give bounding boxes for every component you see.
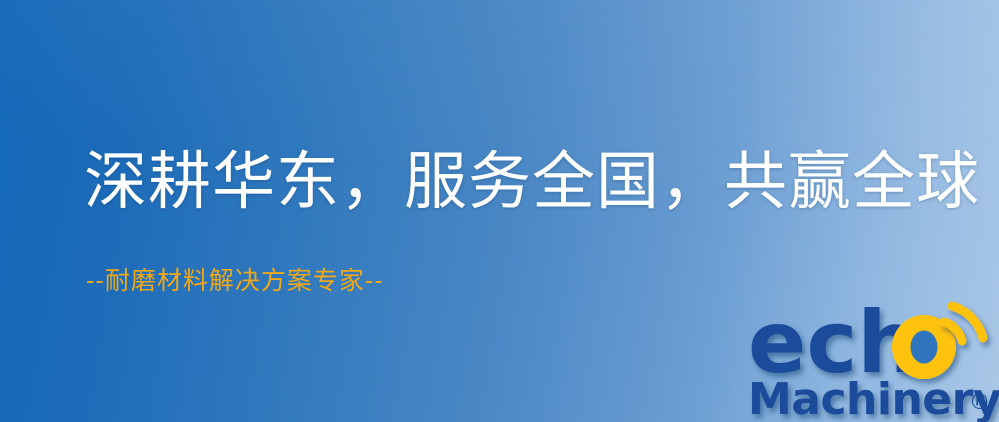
banner-subtitle: --耐磨材料解决方案专家-- xyxy=(86,268,384,293)
echo-machinery-logo[interactable]: ech Machinery ® xyxy=(748,294,999,422)
logo-machinery-wordmark: Machinery xyxy=(748,374,999,422)
banner-headline: 深耕华东，服务全国，共赢全球 xyxy=(84,150,980,213)
registered-trademark-icon: ® xyxy=(969,390,990,414)
hero-banner: 深耕华东，服务全国，共赢全球 --耐磨材料解决方案专家-- ech Mac xyxy=(0,0,999,422)
